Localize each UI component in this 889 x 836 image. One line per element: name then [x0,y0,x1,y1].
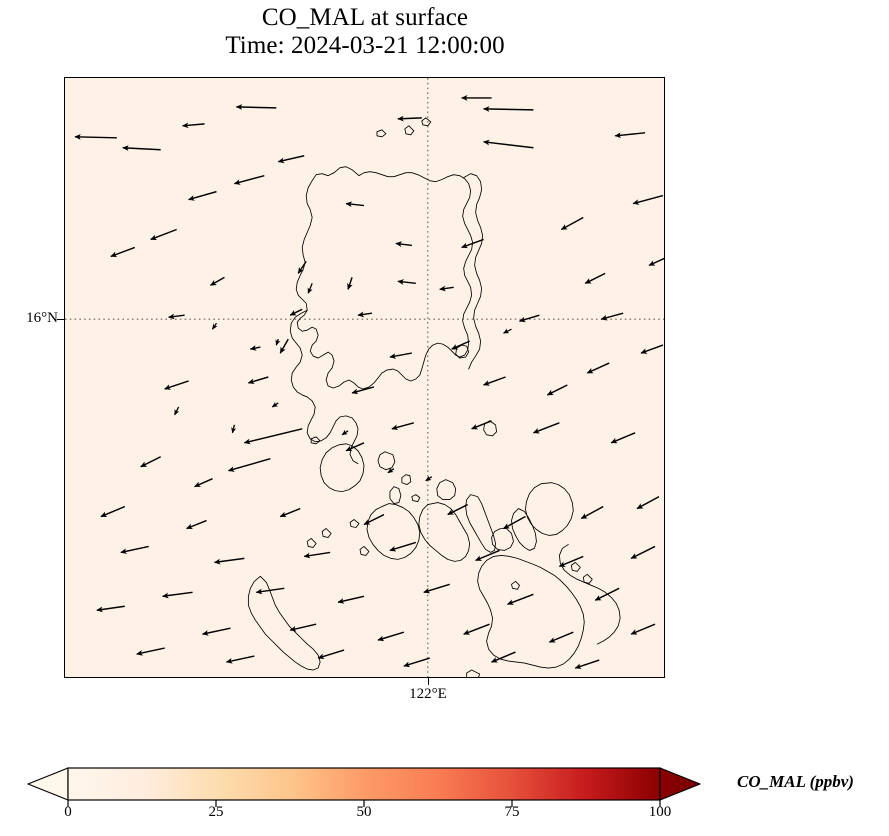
colorbar[interactable]: 0 25 50 75 100 CO_MAL (ppbv) [0,760,889,836]
title-line-variable: CO_MAL at surface [64,4,666,32]
colorbar-extend-min [28,768,68,800]
wind-arrows [75,98,664,668]
colorbar-tick-label-75: 75 [505,804,520,821]
colorbar-label: CO_MAL (ppbv) [737,772,854,792]
colorbar-tick-label-0: 0 [64,804,72,821]
figure-canvas: CO_MAL at surface Time: 2024-03-21 12:00… [0,0,889,836]
xtick-label-122e: 122°E [373,686,483,703]
map-axes[interactable] [64,77,665,678]
ytick-mark-16n [57,319,64,320]
map-inner [65,78,664,677]
page-title: CO_MAL at surface Time: 2024-03-21 12:00… [64,4,666,60]
ytick-label-16n: 16°N [26,310,58,327]
colorbar-tick-label-25: 25 [209,804,224,821]
title-line-time: Time: 2024-03-21 12:00:00 [64,32,666,60]
colorbar-tick-label-100: 100 [649,804,672,821]
colorbar-extend-max [660,768,700,800]
wind-vector-layer [65,78,664,677]
xtick-mark-122e [428,678,429,685]
colorbar-tick-label-50: 50 [357,804,372,821]
colorbar-gradient [68,768,660,800]
